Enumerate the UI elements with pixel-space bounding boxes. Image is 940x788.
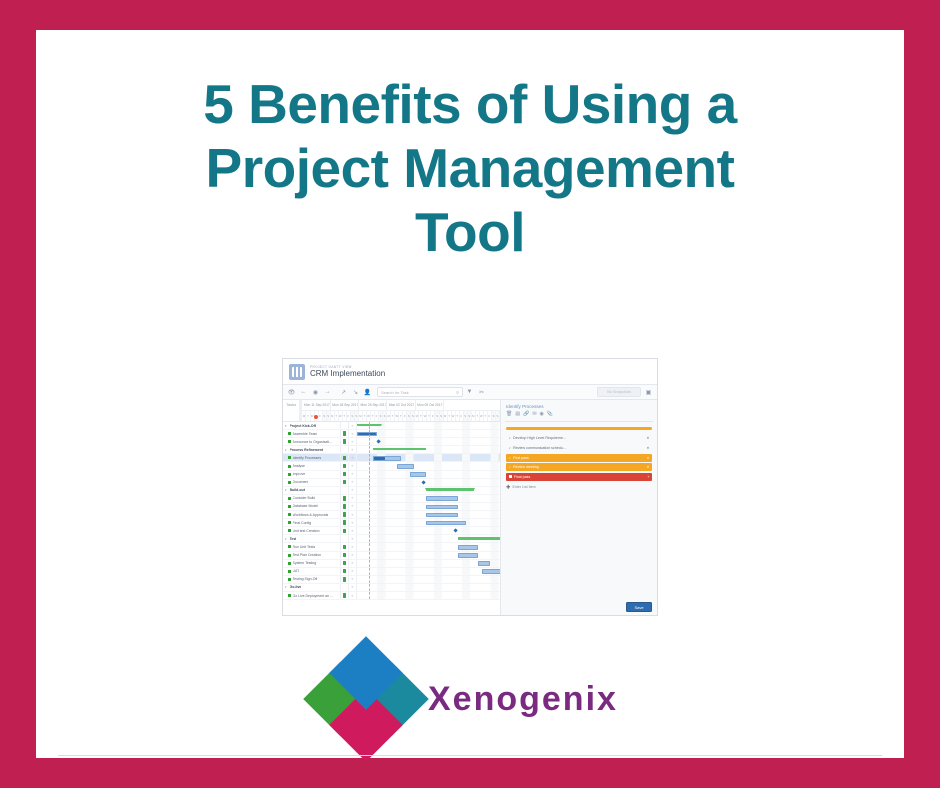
- gantt-row-chart: [357, 560, 500, 567]
- details-panel-toolbar: 🗑 ▤ 🔗 ✉ ◉ 📎: [501, 411, 657, 421]
- gantt-progress-fill: [358, 433, 376, 436]
- task-name-cell[interactable]: Test Plan Creation: [283, 552, 341, 559]
- today-line: [369, 503, 370, 510]
- task-label: Go Live Deployment an ...: [293, 594, 333, 598]
- task-label: Workflows & Approvals: [293, 513, 329, 517]
- status-dot-icon: [288, 481, 291, 484]
- task-name-cell[interactable]: ▾Test: [283, 535, 341, 542]
- row-menu-icon[interactable]: ≡: [349, 503, 357, 510]
- resource-person-icon: [343, 593, 346, 598]
- gantt-summary-bar[interactable]: [458, 537, 500, 540]
- row-menu-icon[interactable]: ≡: [349, 471, 357, 478]
- gantt-task-bar[interactable]: [426, 496, 458, 501]
- today-line: [369, 552, 370, 559]
- task-label: Unit test Creation: [293, 529, 320, 533]
- gantt-row-chart: [357, 519, 500, 526]
- details-panel-title: Identify Processes: [501, 400, 657, 411]
- week-label: Mon 18 Sep 2017: [331, 400, 359, 410]
- resource-cell[interactable]: [341, 503, 349, 510]
- row-menu-icon[interactable]: ≡: [349, 495, 357, 502]
- resource-cell[interactable]: [341, 430, 349, 437]
- task-label: Consider Build: [293, 496, 316, 500]
- gantt-task-bar[interactable]: [458, 553, 478, 558]
- gantt-left-pane: Tasks Mon 11 Sep 2017Mon 18 Sep 2017Mon …: [283, 400, 501, 616]
- resource-cell[interactable]: [341, 487, 349, 494]
- resource-cell[interactable]: [341, 454, 349, 461]
- gantt-row-chart: [357, 422, 500, 429]
- resource-cell[interactable]: [341, 535, 349, 542]
- check-icon[interactable]: ✓: [509, 436, 512, 440]
- gantt-row-chart: [357, 568, 500, 575]
- resource-cell[interactable]: [341, 552, 349, 559]
- row-menu-icon[interactable]: ≡: [349, 479, 357, 486]
- resource-person-icon: [343, 431, 346, 436]
- details-panel: Identify Processes 🗑 ▤ 🔗 ✉ ◉ 📎 ✓Develop …: [501, 400, 657, 616]
- resource-cell[interactable]: [341, 543, 349, 550]
- plus-icon: ➕: [506, 485, 510, 489]
- gantt-row-chart: [357, 576, 500, 583]
- task-name-cell[interactable]: Go Live Deployment an ...: [283, 592, 341, 599]
- check-icon[interactable]: ✓: [509, 465, 512, 469]
- status-dot-icon: [288, 432, 291, 435]
- table-row[interactable]: Identify Processes≡: [283, 454, 500, 462]
- gantt-row-chart: [357, 438, 500, 445]
- gantt-task-bar[interactable]: [357, 432, 377, 437]
- task-label: Improve: [293, 472, 306, 476]
- resource-person-icon: [343, 456, 346, 461]
- chevron-down-icon[interactable]: ▾: [285, 537, 288, 541]
- task-name-cell[interactable]: Announce to Organisati...: [283, 438, 341, 445]
- resource-cell[interactable]: [341, 479, 349, 486]
- status-dot-icon: [288, 521, 291, 524]
- status-dot-icon: [288, 570, 291, 573]
- row-menu-icon[interactable]: ≡: [349, 422, 357, 429]
- note-icon[interactable]: ▤: [515, 411, 520, 417]
- resource-cell[interactable]: [341, 592, 349, 599]
- today-line: [369, 560, 370, 567]
- task-label: System Testing: [293, 561, 317, 565]
- gantt-milestone[interactable]: [421, 480, 426, 485]
- resource-cell[interactable]: [341, 576, 349, 583]
- today-line: [369, 479, 370, 486]
- resource-person-icon: [343, 529, 346, 534]
- row-menu-icon[interactable]: ≡: [349, 519, 357, 526]
- task-label: Project Kick-Off: [290, 424, 316, 428]
- today-line: [369, 495, 370, 502]
- status-dot-icon: [288, 594, 291, 597]
- task-label: Assemble Team: [293, 432, 318, 436]
- status-dot-icon: [288, 456, 291, 459]
- resource-cell[interactable]: [341, 519, 349, 526]
- task-label: Testing Sign-Off: [293, 577, 318, 581]
- status-dot-icon: [288, 473, 291, 476]
- today-line: [369, 511, 370, 518]
- table-row[interactable]: Consider Build≡: [283, 495, 500, 503]
- add-list-item-label: Enter List Item: [512, 485, 535, 489]
- gantt-row-chart: [357, 430, 500, 437]
- today-line: [369, 592, 370, 599]
- search-input[interactable]: Search for Task ⚲: [377, 387, 463, 397]
- task-name-cell[interactable]: Analyse: [283, 462, 341, 469]
- task-name-cell[interactable]: ▾Build-out: [283, 487, 341, 494]
- logo-wordmark: Xenogenix: [428, 680, 618, 719]
- gantt-progress-fill: [374, 457, 385, 460]
- today-line: [369, 527, 370, 534]
- task-label: Analyse: [293, 464, 305, 468]
- today-line: [369, 471, 370, 478]
- today-line: [369, 430, 370, 437]
- gantt-row-chart: [357, 511, 500, 518]
- row-menu-icon[interactable]: ≡: [349, 535, 357, 542]
- table-row[interactable]: Testing Sign-Off≡: [283, 576, 500, 584]
- today-line: [369, 584, 370, 591]
- list-item-label: Review communication schedu...: [513, 446, 644, 450]
- toolbar-right-group: No Snapshots ▣: [597, 387, 654, 398]
- row-menu-icon[interactable]: ≡: [349, 560, 357, 567]
- week-label: Mon 09 Oct 2017: [416, 400, 444, 410]
- table-row[interactable]: ▾Process Refinement≡: [283, 446, 500, 454]
- gantt-milestone[interactable]: [377, 440, 382, 445]
- gantt-milestone[interactable]: [453, 529, 458, 534]
- status-dot-icon: [288, 545, 291, 548]
- today-line: [369, 535, 370, 542]
- row-menu-icon[interactable]: ≡: [349, 454, 357, 461]
- list-item[interactable]: ✓First pass✕: [506, 454, 652, 462]
- today-line: [369, 462, 370, 469]
- camera-icon[interactable]: ▣: [643, 387, 654, 398]
- gantt-row-chart: [357, 535, 500, 542]
- app-logo-icon: [289, 364, 305, 380]
- task-name-cell[interactable]: System Testing: [283, 560, 341, 567]
- row-menu-icon[interactable]: ≡: [349, 584, 357, 591]
- add-list-item[interactable]: ➕ Enter List Item: [501, 481, 657, 493]
- gantt-row-chart: [357, 462, 500, 469]
- trash-icon[interactable]: 🗑: [506, 411, 512, 417]
- gantt-task-bar[interactable]: [426, 505, 458, 510]
- status-dot-icon: [288, 497, 291, 500]
- row-menu-icon[interactable]: ≡: [349, 446, 357, 453]
- table-row[interactable]: Document≡: [283, 479, 500, 487]
- checklist: ✓Develop High Level Requireme...✕✓Review…: [501, 434, 657, 480]
- chevron-down-icon[interactable]: ▾: [285, 488, 288, 492]
- resource-person-icon: [343, 512, 346, 517]
- task-name-cell[interactable]: ▾Project Kick-Off: [283, 422, 341, 429]
- today-line: [369, 568, 370, 575]
- resource-person-icon: [343, 577, 346, 582]
- task-label: Identify Processes: [293, 456, 322, 460]
- task-label: Final Config: [293, 521, 312, 525]
- tasks-column-header: Tasks: [283, 400, 300, 421]
- status-dot-icon: [288, 465, 291, 468]
- gantt-task-bar[interactable]: [373, 456, 401, 461]
- snapshot-select[interactable]: No Snapshots: [597, 387, 641, 397]
- list-item-label: First pass: [513, 456, 644, 460]
- day-row: MTWTFSSMTWTFSSMTWTFSSMTWTFSSMTWTFSSMTWTF…: [302, 411, 500, 421]
- today-line: [369, 543, 370, 550]
- table-row[interactable]: Database Model≡: [283, 503, 500, 511]
- chevron-down-icon[interactable]: ▾: [285, 585, 288, 589]
- clock-icon[interactable]: ◉: [540, 411, 544, 417]
- task-name-cell[interactable]: UAT: [283, 568, 341, 575]
- poster-white-area: 5 Benefits of Using a Project Management…: [36, 30, 904, 758]
- gantt-row-chart: [357, 454, 500, 461]
- resource-person-icon: [343, 439, 346, 444]
- resource-cell[interactable]: [341, 446, 349, 453]
- gantt-grid-header: Tasks Mon 11 Sep 2017Mon 18 Sep 2017Mon …: [283, 400, 500, 422]
- task-name-cell[interactable]: Final Config: [283, 519, 341, 526]
- resource-person-icon: [343, 472, 346, 477]
- search-placeholder: Search for Task: [381, 390, 409, 395]
- close-icon[interactable]: ✕: [646, 465, 649, 469]
- task-name-cell[interactable]: ▾Go-live: [283, 584, 341, 591]
- gantt-task-bar[interactable]: [426, 521, 466, 526]
- status-dot-icon: [288, 529, 291, 532]
- row-menu-icon[interactable]: ≡: [349, 576, 357, 583]
- list-item[interactable]: ✓Develop High Level Requireme...✕: [506, 434, 652, 442]
- resource-person-icon: [343, 464, 346, 469]
- task-name-cell[interactable]: Document: [283, 479, 341, 486]
- row-menu-icon[interactable]: ≡: [349, 527, 357, 534]
- filter-icon[interactable]: ▼: [464, 387, 475, 398]
- app-project-title: CRM Implementation: [310, 369, 385, 379]
- attach-icon[interactable]: 📎: [547, 411, 553, 417]
- task-label: Go-live: [290, 585, 302, 589]
- details-divider: [505, 421, 653, 422]
- table-row[interactable]: ▾Build-out≡: [283, 487, 500, 495]
- task-name-cell[interactable]: Database Model: [283, 503, 341, 510]
- check-icon[interactable]: ✓: [509, 446, 512, 450]
- resource-cell[interactable]: [341, 584, 349, 591]
- page-title: 5 Benefits of Using a Project Management…: [36, 72, 904, 264]
- task-label: Database Model: [293, 504, 319, 508]
- task-name-cell[interactable]: Identify Processes: [283, 454, 341, 461]
- today-marker-icon: [314, 415, 318, 419]
- check-icon[interactable]: ✓: [509, 456, 512, 460]
- eye-icon[interactable]: 👁: [286, 387, 297, 398]
- task-name-cell[interactable]: Consider Build: [283, 495, 341, 502]
- close-icon[interactable]: ✕: [646, 436, 649, 440]
- arrow-left-icon[interactable]: ←: [298, 387, 309, 398]
- row-menu-icon[interactable]: ≡: [349, 511, 357, 518]
- mail-icon[interactable]: ✉: [532, 411, 536, 417]
- task-name-cell[interactable]: Workflows & Approvals: [283, 511, 341, 518]
- gantt-row-chart: [357, 584, 500, 591]
- logo-mark-icon: [314, 647, 418, 751]
- chevron-down-icon[interactable]: ▾: [285, 424, 288, 428]
- app-title-group: PROJECT GANTT VIEW CRM Implementation: [310, 365, 385, 379]
- search-icon[interactable]: ⚲: [456, 390, 459, 395]
- gantt-row-chart: [357, 479, 500, 486]
- collapse-icon[interactable]: ↘: [350, 387, 361, 398]
- today-line: [369, 519, 370, 526]
- week-label: Mon 25 Sep 2017: [359, 400, 387, 410]
- table-row[interactable]: ▾Go-live≡: [283, 584, 500, 592]
- close-icon[interactable]: ✕: [646, 446, 649, 450]
- gantt-row-chart: [357, 446, 500, 453]
- resource-cell[interactable]: [341, 462, 349, 469]
- resource-cell[interactable]: [341, 560, 349, 567]
- task-name-cell[interactable]: Improve: [283, 471, 341, 478]
- status-dot-icon: [288, 562, 291, 565]
- week-row: Mon 11 Sep 2017Mon 18 Sep 2017Mon 25 Sep…: [302, 400, 500, 411]
- status-dot-icon: [288, 554, 291, 557]
- row-menu-icon[interactable]: ≡: [349, 552, 357, 559]
- target-icon[interactable]: ◉: [310, 387, 321, 398]
- gantt-task-bar[interactable]: [478, 561, 490, 566]
- today-line: [369, 446, 370, 453]
- resource-person-icon: [343, 504, 346, 509]
- poster-canvas: 5 Benefits of Using a Project Management…: [0, 0, 940, 788]
- resource-person-icon: [343, 561, 346, 566]
- list-item[interactable]: ✓Review communication schedu...✕: [506, 444, 652, 452]
- row-menu-icon[interactable]: ≡: [349, 592, 357, 599]
- task-name-cell[interactable]: Testing Sign-Off: [283, 576, 341, 583]
- today-line: [369, 422, 370, 429]
- task-label: Build-out: [290, 488, 305, 492]
- today-line: [369, 438, 370, 445]
- resource-person-icon: [343, 520, 346, 525]
- week-label: Mon 02 Oct 2017: [387, 400, 415, 410]
- resource-person-icon: [343, 480, 346, 485]
- resource-cell[interactable]: [341, 511, 349, 518]
- table-row[interactable]: Unit test Creation≡: [283, 527, 500, 535]
- gantt-row-chart: [357, 503, 500, 510]
- row-menu-icon[interactable]: ≡: [349, 487, 357, 494]
- resource-cell[interactable]: [341, 422, 349, 429]
- gantt-task-bar[interactable]: [482, 569, 500, 574]
- save-button[interactable]: Save: [626, 602, 652, 612]
- gantt-row-chart: [357, 487, 500, 494]
- table-row[interactable]: Announce to Organisati...≡: [283, 438, 500, 446]
- gantt-row-chart: [357, 552, 500, 559]
- table-row[interactable]: ▾Test≡: [283, 535, 500, 543]
- task-label: Announce to Organisati...: [293, 440, 333, 444]
- resource-cell[interactable]: [341, 527, 349, 534]
- resource-person-icon: [343, 545, 346, 550]
- title-line-1: 5 Benefits of Using a: [36, 72, 904, 136]
- table-row[interactable]: System Testing≡: [283, 560, 500, 568]
- gantt-task-bar[interactable]: [410, 472, 426, 477]
- table-row[interactable]: Analyse≡: [283, 462, 500, 470]
- gantt-task-bar[interactable]: [426, 513, 458, 518]
- checkbox-icon[interactable]: [509, 475, 512, 478]
- xenogenix-logo: Xenogenix: [314, 644, 634, 754]
- resource-cell[interactable]: [341, 495, 349, 502]
- day-label: S: [496, 411, 500, 421]
- table-row[interactable]: Run Unit Tests≡: [283, 543, 500, 551]
- resource-cell[interactable]: [341, 438, 349, 445]
- today-line: [369, 576, 370, 583]
- title-line-2: Project Management: [36, 136, 904, 200]
- task-name-cell[interactable]: Assemble Team: [283, 430, 341, 437]
- task-label: Document: [293, 480, 309, 484]
- timeline-header: Mon 11 Sep 2017Mon 18 Sep 2017Mon 25 Sep…: [302, 400, 500, 421]
- scissors-icon[interactable]: ✂: [476, 387, 487, 398]
- task-label: Process Refinement: [290, 448, 324, 452]
- resource-person-icon: [343, 553, 346, 558]
- table-row[interactable]: Assemble Team≡: [283, 430, 500, 438]
- table-row[interactable]: ▾Project Kick-Off≡: [283, 422, 500, 430]
- row-menu-icon[interactable]: ≡: [349, 568, 357, 575]
- list-item-label: Review meeting: [513, 465, 644, 469]
- table-row[interactable]: Workflows & Approvals≡: [283, 511, 500, 519]
- progress-bar: [506, 427, 652, 430]
- task-name-cell[interactable]: Unit test Creation: [283, 527, 341, 534]
- resource-person-icon: [343, 496, 346, 501]
- gantt-row-chart: [357, 471, 500, 478]
- resource-cell[interactable]: [341, 568, 349, 575]
- task-name-cell[interactable]: ▾Process Refinement: [283, 446, 341, 453]
- chevron-down-icon[interactable]: ▾: [285, 448, 288, 452]
- status-dot-icon: [288, 440, 291, 443]
- gantt-row-chart: [357, 495, 500, 502]
- resource-person-icon: [343, 569, 346, 574]
- task-label: Test Plan Creation: [293, 553, 322, 557]
- gantt-summary-bar[interactable]: [426, 488, 474, 491]
- title-line-3: Tool: [36, 200, 904, 264]
- table-row[interactable]: Test Plan Creation≡: [283, 552, 500, 560]
- task-label: UAT: [293, 569, 300, 573]
- expand-icon[interactable]: ↗: [338, 387, 349, 398]
- gantt-row-chart: [357, 527, 500, 534]
- bottom-divider: [58, 755, 882, 756]
- table-row[interactable]: Go Live Deployment an ...≡: [283, 592, 500, 600]
- arrow-right-icon[interactable]: →: [322, 387, 333, 398]
- gantt-body: Tasks Mon 11 Sep 2017Mon 18 Sep 2017Mon …: [283, 400, 657, 616]
- gantt-task-bar[interactable]: [458, 545, 478, 550]
- person-icon[interactable]: 👤: [362, 387, 373, 398]
- task-name-cell[interactable]: Run Unit Tests: [283, 543, 341, 550]
- gantt-summary-bar[interactable]: [373, 448, 426, 451]
- gantt-task-bar[interactable]: [397, 464, 413, 469]
- today-line: [369, 454, 370, 461]
- row-menu-icon[interactable]: ≡: [349, 430, 357, 437]
- resource-cell[interactable]: [341, 471, 349, 478]
- list-item[interactable]: Final pass+: [506, 473, 652, 481]
- save-button-wrap: Save: [626, 602, 652, 612]
- table-row[interactable]: Final Config≡: [283, 519, 500, 527]
- add-icon[interactable]: +: [647, 475, 649, 479]
- list-item-label: Final pass: [514, 475, 646, 479]
- gantt-row-chart: [357, 592, 500, 599]
- app-header: PROJECT GANTT VIEW CRM Implementation: [283, 359, 657, 385]
- row-menu-icon[interactable]: ≡: [349, 438, 357, 445]
- gantt-toolbar: 👁 ← ◉ → ↗ ↘ 👤 Search for Task ⚲ ▼ ✂ No S…: [283, 385, 657, 400]
- task-label: Test: [290, 537, 297, 541]
- list-item-label: Develop High Level Requireme...: [513, 436, 644, 440]
- status-dot-icon: [288, 513, 291, 516]
- gantt-rows: ▾Project Kick-Off≡Assemble Team≡Announce…: [283, 422, 500, 616]
- status-dot-icon: [288, 505, 291, 508]
- row-menu-icon[interactable]: ≡: [349, 543, 357, 550]
- today-line: [369, 487, 370, 494]
- close-icon[interactable]: ✕: [646, 456, 649, 460]
- week-label: Mon 11 Sep 2017: [302, 400, 330, 410]
- gantt-app-screenshot: PROJECT GANTT VIEW CRM Implementation 👁 …: [282, 358, 658, 616]
- table-row[interactable]: UAT≡: [283, 568, 500, 576]
- row-menu-icon[interactable]: ≡: [349, 462, 357, 469]
- table-row[interactable]: Improve≡: [283, 471, 500, 479]
- status-dot-icon: [288, 578, 291, 581]
- list-item[interactable]: ✓Review meeting✕: [506, 463, 652, 471]
- task-label: Run Unit Tests: [293, 545, 316, 549]
- link-icon[interactable]: 🔗: [523, 411, 529, 417]
- gantt-row-chart: [357, 543, 500, 550]
